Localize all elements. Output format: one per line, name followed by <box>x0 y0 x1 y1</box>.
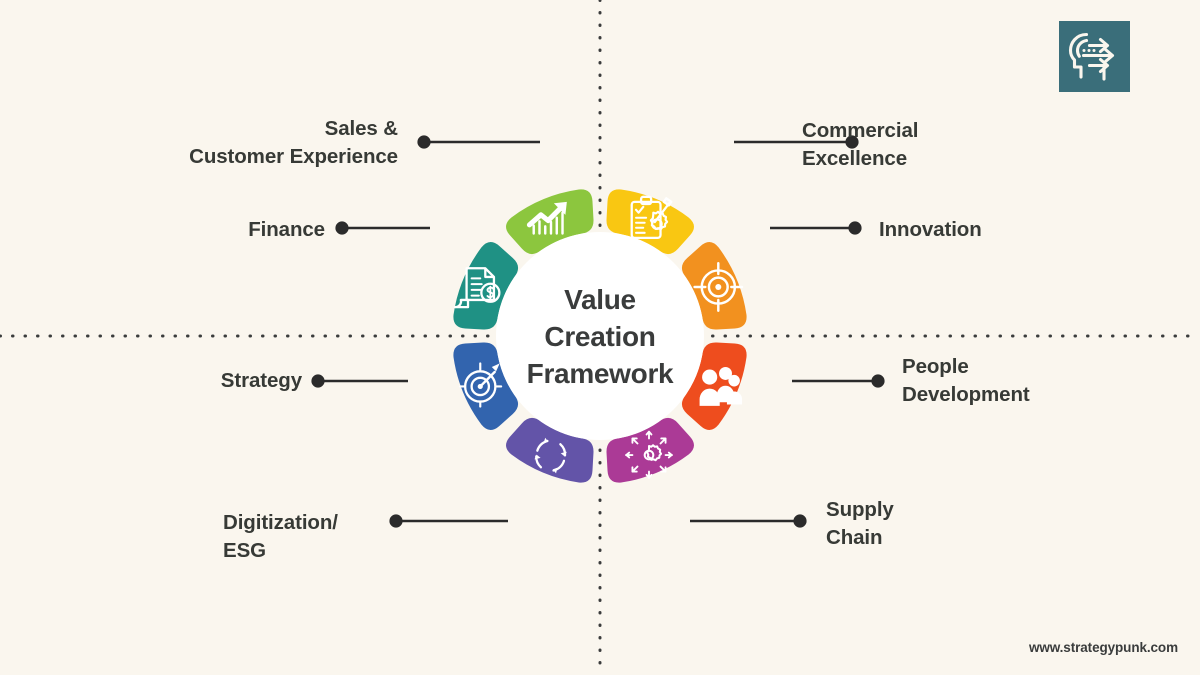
segment-label-innovation[interactable]: Innovation <box>879 216 982 244</box>
gear-expand-icon <box>626 432 672 478</box>
infographic-canvas: Value Creation Framework Sales & Custome… <box>0 0 1200 675</box>
segment-label-digitization-esg[interactable]: Digitization/ ESG <box>223 509 383 566</box>
segment-label-commercial-excellence[interactable]: Commercial Excellence <box>802 117 918 174</box>
connector-strategy <box>313 376 408 387</box>
segment-label-sales-customer-experience[interactable]: Sales & Customer Experience <box>189 115 398 172</box>
segment-label-people-development[interactable]: People Development <box>902 353 1030 410</box>
footer-website-url[interactable]: www.strategypunk.com <box>1029 640 1178 655</box>
segment-label-finance[interactable]: Finance <box>248 216 325 244</box>
connector-supply-chain <box>690 516 805 527</box>
connector-digitization-esg <box>391 516 508 527</box>
segment-label-supply-chain[interactable]: Supply Chain <box>826 496 894 553</box>
connector-people-development <box>792 376 883 387</box>
head-arrows-logo-icon[interactable] <box>1059 21 1130 92</box>
connector-sales-customer-experience <box>419 137 540 148</box>
connector-innovation <box>770 223 860 234</box>
page-title: Value Creation Framework <box>495 281 705 393</box>
connector-finance <box>337 223 430 234</box>
segment-label-strategy[interactable]: Strategy <box>221 367 302 395</box>
